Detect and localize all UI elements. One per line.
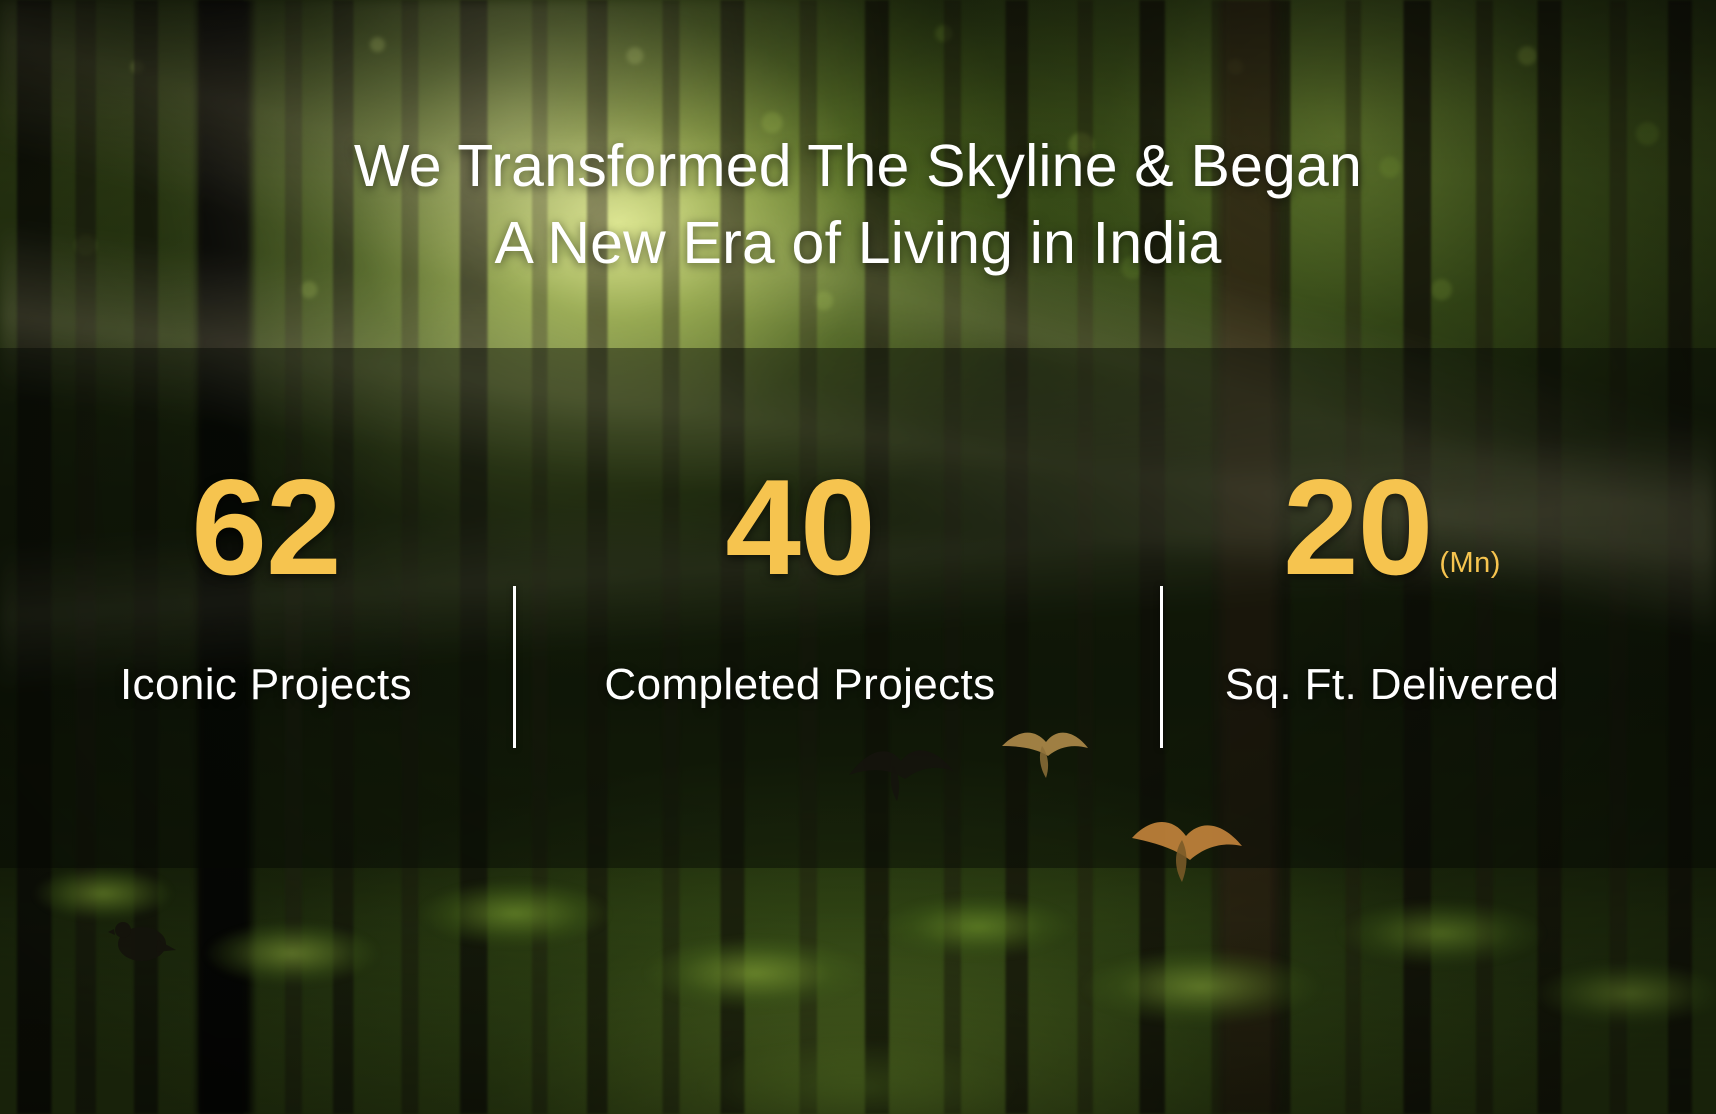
hero-banner: We Transformed The Skyline & Began A New…	[0, 0, 1716, 1114]
stat-divider-1	[513, 586, 516, 748]
stat-divider-2	[1160, 586, 1163, 748]
hero-headline: We Transformed The Skyline & Began A New…	[0, 128, 1716, 284]
stat-value: 40	[725, 464, 874, 592]
stat-iconic-projects: 62 Iconic Projects	[32, 462, 500, 710]
headline-line-1: We Transformed The Skyline & Began	[0, 128, 1716, 206]
stat-value-row: 20 (Mn)	[1283, 462, 1501, 592]
stat-sq-ft-delivered: 20 (Mn) Sq. Ft. Delivered	[1100, 462, 1684, 710]
stat-value-row: 62	[191, 462, 340, 592]
stat-value: 62	[191, 464, 340, 592]
stat-value-row: 40	[725, 462, 874, 592]
stat-label: Sq. Ft. Delivered	[1225, 660, 1559, 710]
stat-completed-projects: 40 Completed Projects	[500, 462, 1100, 710]
stats-row: 62 Iconic Projects 40 Completed Projects…	[0, 462, 1716, 710]
stat-label: Completed Projects	[604, 660, 995, 710]
stat-unit: (Mn)	[1439, 549, 1501, 578]
stat-label: Iconic Projects	[120, 660, 412, 710]
headline-line-2: A New Era of Living in India	[0, 205, 1716, 283]
stat-value: 20	[1283, 464, 1432, 592]
